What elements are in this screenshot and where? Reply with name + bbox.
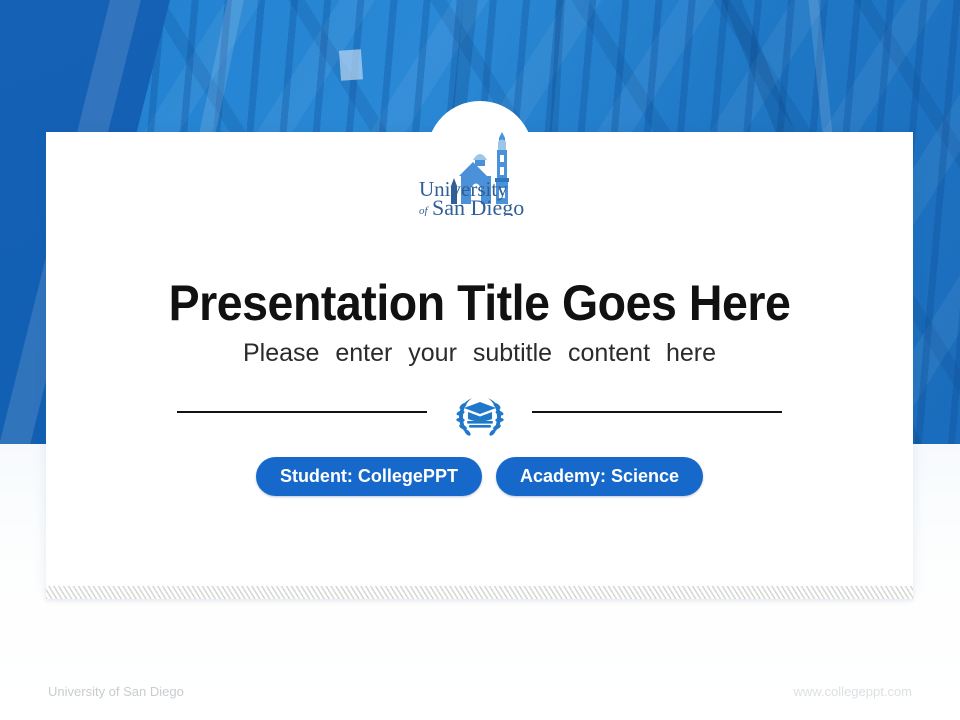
- page-subtitle: Please enter your subtitle content here: [46, 339, 913, 368]
- card-hatched-strip: [46, 586, 913, 599]
- page-title: Presentation Title Goes Here: [76, 274, 882, 332]
- logo-wordmark: University of San Diego: [419, 177, 524, 216]
- divider-line-right: [532, 411, 782, 413]
- badge-academy[interactable]: Academy: Science: [496, 457, 703, 496]
- graduation-cap-laurel-icon: [452, 392, 508, 438]
- svg-text:San Diego: San Diego: [432, 195, 524, 216]
- badge-student[interactable]: Student: CollegePPT: [256, 457, 482, 496]
- photo-note-card: [339, 49, 363, 80]
- svg-text:of: of: [419, 205, 430, 216]
- footer-university-name: University of San Diego: [48, 684, 184, 699]
- university-logo: University of San Diego: [415, 130, 545, 216]
- footer-website[interactable]: www.collegeppt.com: [794, 684, 913, 699]
- divider-row: [46, 392, 913, 440]
- badge-row: Student: CollegePPT Academy: Science: [46, 457, 913, 496]
- presentation-slide: University of San Diego Presentation Tit…: [0, 0, 960, 720]
- divider-line-left: [177, 411, 427, 413]
